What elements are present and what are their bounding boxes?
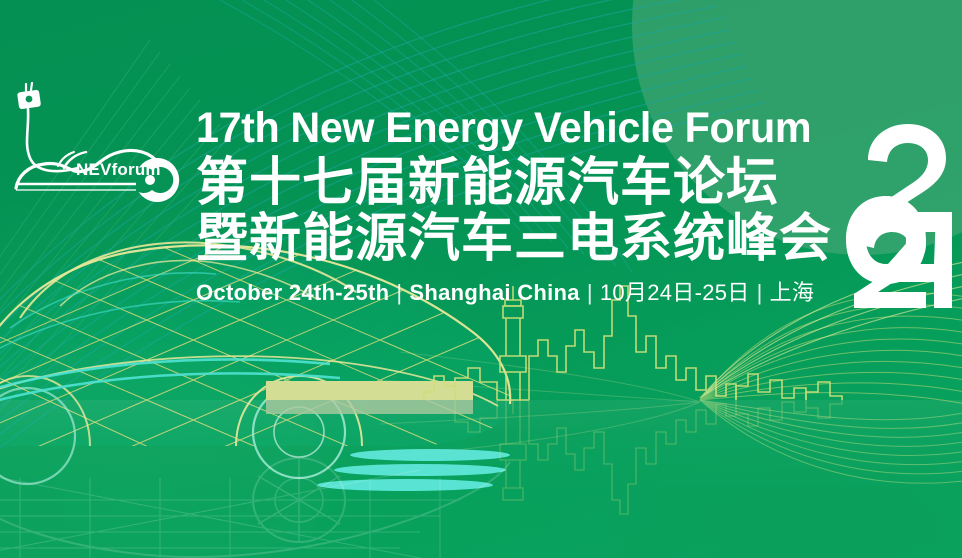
- logo-wordmark-forum: forum: [112, 160, 161, 179]
- separator-2: |: [580, 280, 600, 305]
- event-banner: NEVforum 17th New Energy Vehicle Forum 第…: [0, 0, 962, 558]
- electric-plug-icon: [26, 83, 32, 91]
- nevforum-logo: NEVforum: [8, 78, 188, 208]
- logo-wordmark-nev: NEV: [76, 160, 112, 179]
- year-numerals: [842, 108, 962, 308]
- event-details: October 24th-25th|Shanghai China|10月24日-…: [196, 280, 836, 306]
- logo-wordmark: NEVforum: [76, 160, 161, 180]
- separator-1: |: [389, 280, 409, 305]
- separator-3: |: [750, 280, 770, 305]
- date-chinese: 10月24日-25日: [600, 280, 750, 305]
- title-chinese-line2: 暨新能源汽车三电系统峰会: [196, 210, 836, 268]
- plug-center-dot: [26, 96, 33, 103]
- year-2024-graphic: 2024: [842, 108, 962, 308]
- location-chinese: 上海: [770, 280, 815, 305]
- title-english: 17th New Energy Vehicle Forum: [196, 104, 810, 152]
- plug-cable: [27, 109, 78, 171]
- date-english: October 24th-25th: [196, 280, 389, 305]
- title-block: 17th New Energy Vehicle Forum 第十七届新能源汽车论…: [196, 104, 836, 306]
- logo-mark: [8, 78, 188, 208]
- location-english: Shanghai China: [409, 280, 579, 305]
- title-chinese-line1: 第十七届新能源汽车论坛: [196, 154, 836, 212]
